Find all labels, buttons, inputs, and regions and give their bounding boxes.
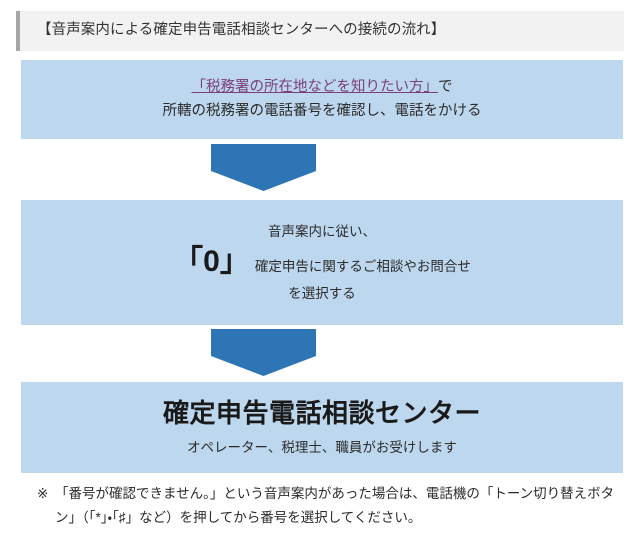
flow-step-2-line-3: を選択する (288, 285, 356, 303)
flowchart-page: 【音声案内による確定申告電話相談センターへの接続の流れ】 「税務署の所在地などを… (0, 0, 640, 535)
flow-step-1-line-1-suffix: で (438, 79, 453, 95)
flow-step-2-line-1: 音声案内に従い、 (268, 223, 376, 241)
tax-office-location-link[interactable]: 「税務署の所在地などを知りたい方」 (192, 79, 439, 95)
footnote-mark: ※ (21, 482, 55, 506)
flow-step-1-box: 「税務署の所在地などを知りたい方」で 所轄の税務署の電話番号を確認し、電話をかけ… (21, 60, 623, 139)
call-center-subtitle: オペレーター、税理士、職員がお受けします (187, 439, 457, 457)
section-header: 【音声案内による確定申告電話相談センターへの接続の流れ】 (16, 11, 624, 51)
footnote: ※ 「番号が確認できません。」という音声案内があった場合は、電話機の「トーン切り… (21, 482, 631, 529)
keypad-zero-label: 「0」 (173, 247, 250, 277)
flow-step-1-line-1: 「税務署の所在地などを知りたい方」で (192, 77, 453, 98)
flow-step-1-line-2: 所轄の税務署の電話番号を確認し、電話をかける (163, 101, 482, 122)
down-arrow-icon-1 (211, 144, 316, 191)
flow-step-2-line-2-text: 確定申告に関するご相談やお問合せ (255, 258, 471, 276)
call-center-title: 確定申告電話相談センター (163, 398, 481, 429)
flow-step-2-box: 音声案内に従い、 「0」 確定申告に関するご相談やお問合せ を選択する (21, 200, 623, 325)
section-header-title: 【音声案内による確定申告電話相談センターへの接続の流れ】 (20, 22, 445, 39)
footnote-text: 「番号が確認できません。」という音声案内があった場合は、電話機の「トーン切り替え… (55, 482, 631, 529)
down-arrow-icon-2 (211, 329, 316, 376)
flow-step-3-box: 確定申告電話相談センター オペレーター、税理士、職員がお受けします (21, 382, 623, 473)
flow-step-2-line-2: 「0」 確定申告に関するご相談やお問合せ (173, 247, 471, 277)
